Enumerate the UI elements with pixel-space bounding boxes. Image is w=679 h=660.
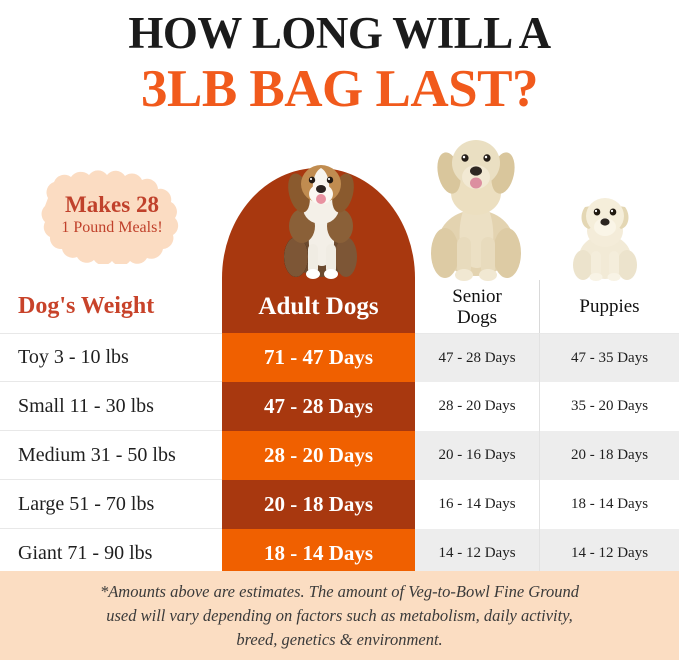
header-senior-dogs: Senior Dogs — [415, 280, 540, 333]
puppy-photo — [569, 193, 641, 281]
cell-puppies: 20 - 18 Days — [540, 431, 679, 480]
cell-senior: 20 - 16 Days — [415, 431, 540, 480]
adult-dog-photo — [276, 158, 366, 280]
header-senior-line-2: Dogs — [457, 307, 497, 328]
header-adult-dogs: Adult Dogs — [222, 280, 415, 333]
cell-senior: 28 - 20 Days — [415, 382, 540, 431]
cell-weight: Medium 31 - 50 lbs — [0, 431, 222, 480]
header-dogs-weight: Dog's Weight — [0, 280, 222, 333]
cell-senior: 16 - 14 Days — [415, 480, 540, 529]
feeding-duration-table: Dog's Weight Adult Dogs Senior Dogs Pupp… — [0, 280, 679, 578]
cell-adult: 28 - 20 Days — [222, 431, 415, 480]
cell-senior: 47 - 28 Days — [415, 333, 540, 382]
header-senior-line-1: Senior — [452, 286, 502, 307]
table-row: Small 11 - 30 lbs 47 - 28 Days 28 - 20 D… — [0, 382, 679, 431]
table-row: Medium 31 - 50 lbs 28 - 20 Days 20 - 16 … — [0, 431, 679, 480]
table-header-row: Dog's Weight Adult Dogs Senior Dogs Pupp… — [0, 280, 679, 333]
cell-adult: 20 - 18 Days — [222, 480, 415, 529]
table-row: Toy 3 - 10 lbs 71 - 47 Days 47 - 28 Days… — [0, 333, 679, 382]
makes-meals-badge: Makes 28 1 Pound Meals! — [28, 166, 196, 264]
footer-disclaimer: *Amounts above are estimates. The amount… — [0, 571, 679, 660]
header-puppies: Puppies — [540, 280, 679, 333]
cell-weight: Toy 3 - 10 lbs — [0, 333, 222, 382]
footer-note-text: *Amounts above are estimates. The amount… — [90, 580, 590, 652]
cell-adult: 71 - 47 Days — [222, 333, 415, 382]
cell-weight: Small 11 - 30 lbs — [0, 382, 222, 431]
cell-weight: Large 51 - 70 lbs — [0, 480, 222, 529]
cell-puppies: 35 - 20 Days — [540, 382, 679, 431]
title-line-1: HOW LONG WILL A — [0, 6, 679, 60]
senior-dog-photo — [423, 131, 529, 281]
table-row: Large 51 - 70 lbs 20 - 18 Days 16 - 14 D… — [0, 480, 679, 529]
page-title: HOW LONG WILL A 3LB BAG LAST? — [0, 0, 679, 118]
cell-adult: 47 - 28 Days — [222, 382, 415, 431]
cell-puppies: 47 - 35 Days — [540, 333, 679, 382]
scalloped-blob-icon — [28, 166, 196, 264]
title-line-2: 3LB BAG LAST? — [0, 60, 679, 118]
cell-puppies: 18 - 14 Days — [540, 480, 679, 529]
